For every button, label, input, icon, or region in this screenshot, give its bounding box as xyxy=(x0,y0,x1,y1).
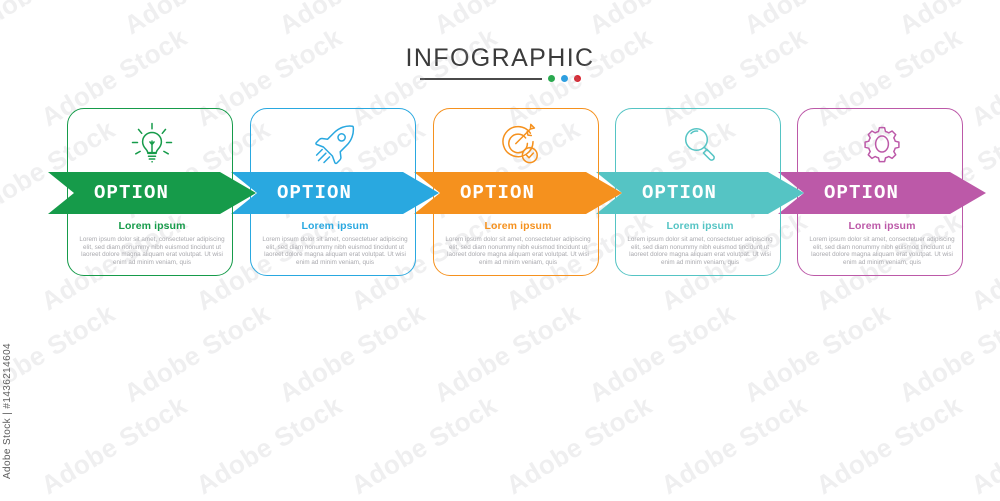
title-underline xyxy=(420,78,542,80)
step-ribbon[interactable]: OPTION xyxy=(596,172,804,214)
step-subtitle: Lorem ipsum xyxy=(62,220,242,232)
title-decoration xyxy=(0,75,1000,82)
step-1[interactable]: OPTIONLorem ipsumLorem ipsum dolor sit a… xyxy=(62,100,242,285)
step-subtitle: Lorem ipsum xyxy=(792,220,972,232)
dot-green-icon xyxy=(548,75,555,82)
gear-icon xyxy=(792,118,972,174)
step-4[interactable]: OPTIONLorem ipsumLorem ipsum dolor sit a… xyxy=(610,100,790,285)
rocket-icon xyxy=(245,118,425,174)
stock-watermark-tile: Adobe Stock xyxy=(656,390,813,501)
step-subtitle: Lorem ipsum xyxy=(610,220,790,232)
stock-watermark-tile: Adobe Stock xyxy=(0,0,121,41)
step-body-text: Lorem ipsum dolor sit amet, consectetuer… xyxy=(444,236,592,266)
stock-watermark-tile: Adobe Stock xyxy=(429,0,586,41)
step-subtitle: Lorem ipsum xyxy=(245,220,425,232)
stock-watermark-tile: Adobe Stock xyxy=(0,298,121,409)
step-option-label: OPTION xyxy=(460,184,535,203)
stock-watermark-tile: Adobe Stock xyxy=(119,298,276,409)
stock-watermark-id: Adobe Stock | #1436214604 xyxy=(2,343,13,479)
stock-watermark-tile: Adobe Stock xyxy=(36,390,193,501)
step-ribbon[interactable]: OPTION xyxy=(48,172,256,214)
step-body-text: Lorem ipsum dolor sit amet, consectetuer… xyxy=(78,236,226,266)
dot-blue-icon xyxy=(561,75,568,82)
step-ribbon[interactable]: OPTION xyxy=(414,172,622,214)
step-subtitle: Lorem ipsum xyxy=(428,220,608,232)
stock-watermark-tile: Adobe Stock xyxy=(584,298,741,409)
magnifier-icon xyxy=(610,118,790,174)
infographic-steps: OPTIONLorem ipsumLorem ipsum dolor sit a… xyxy=(0,100,1000,300)
step-ribbon[interactable]: OPTION xyxy=(231,172,439,214)
stock-watermark-tile: Adobe Stock xyxy=(894,0,1000,41)
stock-watermark-tile: Adobe Stock xyxy=(274,298,431,409)
stock-watermark-tile: Adobe Stock xyxy=(894,298,1000,409)
stock-watermark-tile: Adobe Stock xyxy=(274,0,431,41)
step-option-label: OPTION xyxy=(824,184,899,203)
step-option-label: OPTION xyxy=(642,184,717,203)
step-ribbon[interactable]: OPTION xyxy=(778,172,986,214)
stock-watermark-tile: Adobe Stock xyxy=(119,0,276,41)
step-2[interactable]: OPTIONLorem ipsumLorem ipsum dolor sit a… xyxy=(245,100,425,285)
header: INFOGRAPHIC xyxy=(0,45,1000,82)
stock-watermark-tile: Adobe Stock xyxy=(429,298,586,409)
dot-red-icon xyxy=(574,75,581,82)
lightbulb-icon xyxy=(62,118,242,174)
stock-watermark-tile: Adobe Stock xyxy=(346,390,503,501)
stock-watermark-tile: Adobe Stock xyxy=(739,298,896,409)
step-option-label: OPTION xyxy=(94,184,169,203)
stock-watermark-tile: Adobe Stock xyxy=(501,390,658,501)
stock-watermark-tile: Adobe Stock xyxy=(739,0,896,41)
step-body-text: Lorem ipsum dolor sit amet, consectetuer… xyxy=(808,236,956,266)
stock-watermark-tile: Adobe Stock xyxy=(584,0,741,41)
page-title: INFOGRAPHIC xyxy=(0,45,1000,71)
step-body-text: Lorem ipsum dolor sit amet, consectetuer… xyxy=(626,236,774,266)
step-3[interactable]: OPTIONLorem ipsumLorem ipsum dolor sit a… xyxy=(428,100,608,285)
stock-watermark-tile: Adobe Stock xyxy=(966,390,1000,501)
step-body-text: Lorem ipsum dolor sit amet, consectetuer… xyxy=(261,236,409,266)
stock-watermark-tile: Adobe Stock xyxy=(191,390,348,501)
stock-watermark-tile: Adobe Stock xyxy=(811,390,968,501)
step-5[interactable]: OPTIONLorem ipsumLorem ipsum dolor sit a… xyxy=(792,100,972,285)
target-check-icon xyxy=(428,118,608,174)
step-option-label: OPTION xyxy=(277,184,352,203)
